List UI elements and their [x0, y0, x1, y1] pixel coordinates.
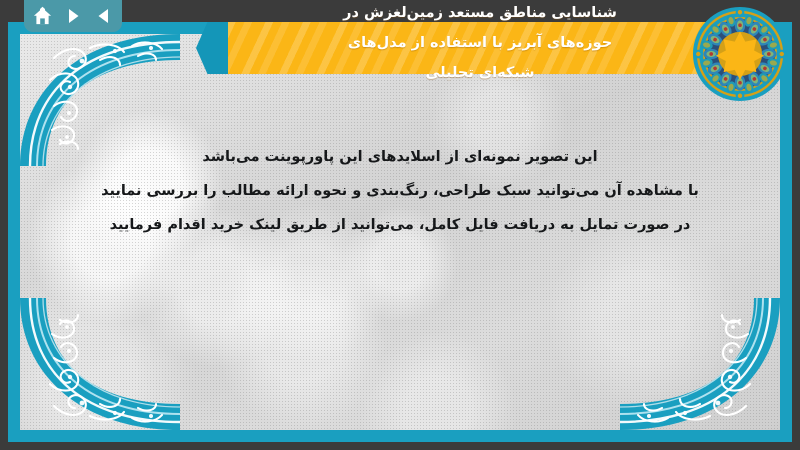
slide-viewer: این تصویر نمونه‌ای از اسلایدهای این پاور…	[0, 0, 800, 450]
next-slide-button[interactable]	[62, 5, 84, 27]
home-button[interactable]	[31, 5, 53, 27]
home-icon	[32, 6, 53, 27]
triangle-left-icon	[94, 6, 114, 26]
previous-slide-button[interactable]	[93, 5, 115, 27]
body-line-1: این تصویر نمونه‌ای از اسلایدهای این پاور…	[48, 140, 752, 174]
title-line-1: شناسایی مناطق مستعد زمین‌لغزش در	[256, 0, 704, 28]
title-line-2: حوزه‌های آبریز با استفاده از مدل‌های	[256, 28, 704, 58]
persian-rosette-medallion-icon	[692, 6, 788, 102]
triangle-right-icon	[63, 6, 83, 26]
slide-navigation-bar	[24, 0, 122, 32]
slide-title-ribbon: شناسایی مناطق مستعد زمین‌لغزش در حوزه‌ها…	[196, 0, 800, 97]
body-line-2: با مشاهده آن می‌توانید سبک طراحی، رنگ‌بن…	[48, 174, 752, 208]
body-line-3: در صورت تمایل به دریافت فایل کامل، می‌تو…	[48, 208, 752, 242]
title-line-3: شبکه‌ای تحلیلی	[256, 58, 704, 88]
slide-body-text: این تصویر نمونه‌ای از اسلایدهای این پاور…	[48, 140, 752, 242]
slide-title: شناسایی مناطق مستعد زمین‌لغزش در حوزه‌ها…	[256, 0, 704, 88]
